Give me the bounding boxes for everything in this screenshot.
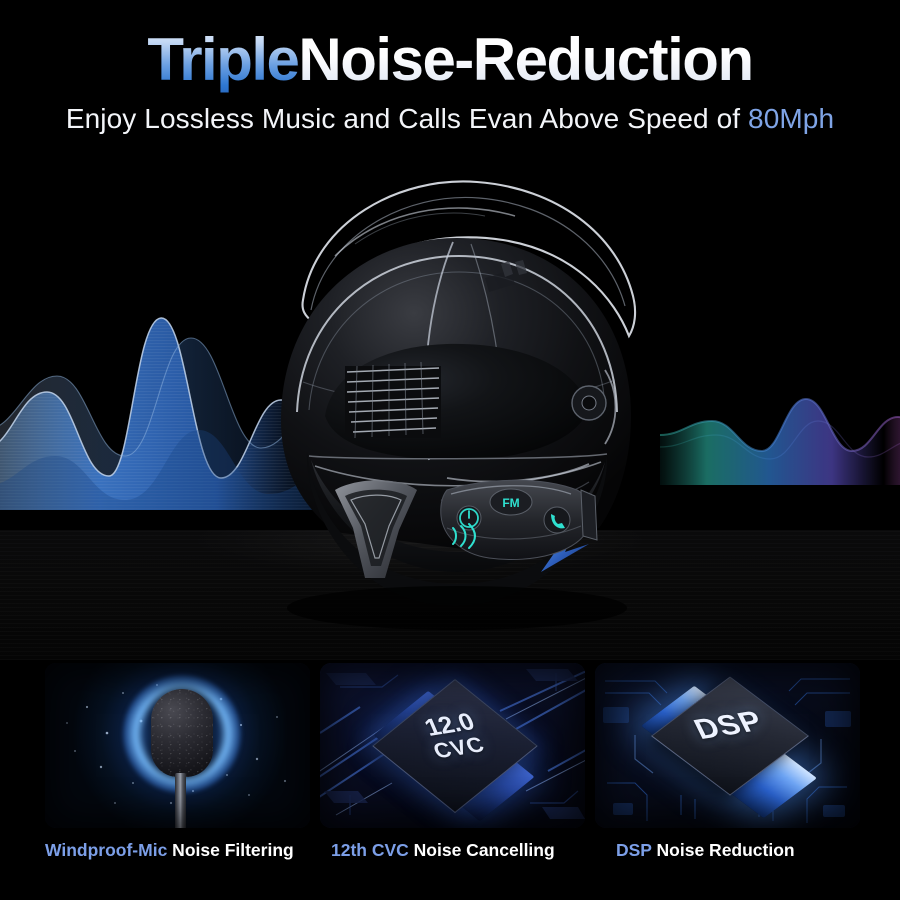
caption-windproof-mic: Windproof-Mic Noise Filtering	[45, 840, 294, 861]
caption-rest: Noise Cancelling	[409, 840, 555, 860]
poster-root: TripleNoise-Reduction Enjoy Lossless Mus…	[0, 0, 900, 900]
caption-rest: Noise Reduction	[652, 840, 795, 860]
caption-rest: Noise Filtering	[167, 840, 293, 860]
headline-accent: Triple	[147, 26, 298, 93]
hero-scene: FM	[0, 150, 900, 660]
caption-accent: DSP	[616, 840, 652, 860]
subtitle-prefix: Enjoy Lossless Music and Calls Evan Abov…	[66, 103, 748, 134]
header: TripleNoise-Reduction Enjoy Lossless Mus…	[0, 0, 900, 165]
headline-main: Noise-Reduction	[298, 26, 752, 93]
mic-stem	[175, 773, 186, 828]
bluetooth-headset-module: FM	[441, 480, 597, 559]
subtitle: Enjoy Lossless Music and Calls Evan Abov…	[0, 90, 900, 135]
mic-foam-windscreen	[151, 689, 213, 777]
fm-button-label: FM	[502, 496, 519, 510]
helmet-image: FM	[185, 160, 705, 640]
caption-accent: Windproof-Mic	[45, 840, 167, 860]
panel-dsp-chip[interactable]: DSP	[595, 663, 860, 828]
panel-windproof-mic[interactable]	[45, 663, 310, 828]
helmet-liner-mesh	[345, 362, 441, 438]
caption-dsp: DSP Noise Reduction	[616, 840, 795, 861]
feature-panels: 12.0 CVC	[0, 663, 900, 835]
caption-cvc: 12th CVC Noise Cancelling	[331, 840, 555, 861]
subtitle-accent: 80Mph	[748, 103, 834, 134]
panel-cvc-chip[interactable]: 12.0 CVC	[320, 663, 585, 828]
panel-captions: Windproof-Mic Noise Filtering 12th CVC N…	[0, 840, 900, 880]
page-title: TripleNoise-Reduction	[0, 0, 900, 90]
caption-accent: 12th CVC	[331, 840, 409, 860]
